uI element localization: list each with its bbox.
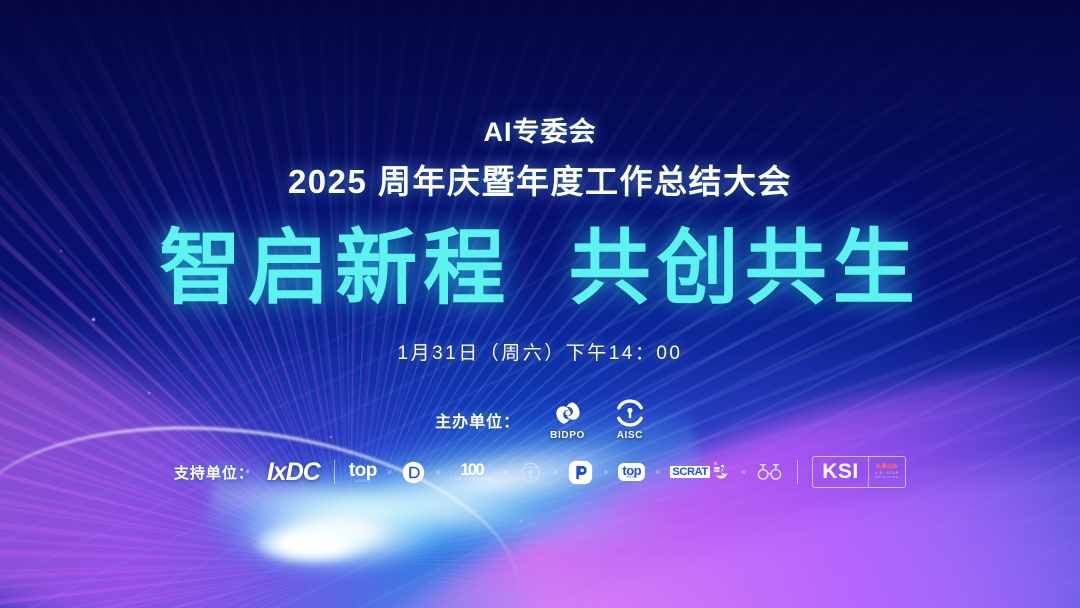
supporter-top-boxed[interactable]: top BOX xyxy=(618,459,645,485)
supporter-top[interactable]: top LOGO xyxy=(349,459,377,485)
organizer-name: BIDPO xyxy=(550,430,585,441)
organizers-label: 主办单位： xyxy=(435,408,520,432)
hundred-label: 100 xyxy=(460,463,482,477)
top-wordmark: top LOGO xyxy=(349,462,377,483)
supporter-fan[interactable] xyxy=(518,459,543,485)
glasses-icon xyxy=(756,462,783,482)
organizer-bidpo[interactable]: BIDPO xyxy=(550,398,585,441)
divider xyxy=(797,460,798,484)
organizer-name: AISC xyxy=(617,430,643,441)
scrat-label: SCRAT xyxy=(670,466,710,478)
fan-outline-icon xyxy=(518,460,543,485)
aisc-arcs-icon xyxy=(615,398,645,428)
hundred-sublabel: ONE HUNDRED xyxy=(450,478,492,481)
event-datetime: 1月31日（周六）下午14：00 xyxy=(0,338,1080,365)
bidpo-swirl-icon xyxy=(553,398,583,428)
ksi-label: KSI xyxy=(813,460,868,484)
logo-separator: × xyxy=(655,467,660,477)
event-poster: AI专委会 2025 周年庆暨年度工作总结大会 智启新程 共创共生 1月31日（… xyxy=(0,0,1080,608)
logo-separator: × xyxy=(435,467,440,477)
poster-content: AI专委会 2025 周年庆暨年度工作总结大会 智启新程 共创共生 1月31日（… xyxy=(0,0,1080,608)
logo-separator: × xyxy=(553,467,558,477)
rounded-p-icon xyxy=(568,460,593,485)
supporter-ksi[interactable]: KSI 私董创新 K.E. STAR CONSULTING xyxy=(812,456,906,488)
supporters-label: 支持单位： xyxy=(174,462,254,483)
top-sublabel: LOGO xyxy=(355,479,371,483)
supporter-scrat[interactable]: SCRAT xyxy=(670,459,731,485)
event-main-title: 智启新程 共创共生 xyxy=(0,228,1080,310)
hundred-wordmark: 100 ONE HUNDRED xyxy=(450,463,492,480)
top-boxed-wordmark: top BOX xyxy=(618,463,645,482)
supporters-row: 支持单位： IxDC top LOGO × × xyxy=(0,456,1080,488)
logo-separator: × xyxy=(741,467,746,477)
logo-separator: × xyxy=(603,467,608,477)
scrat-swan-icon xyxy=(711,464,731,481)
organizer-aisc[interactable]: AISC xyxy=(615,398,645,441)
supporter-glasses[interactable] xyxy=(756,459,783,485)
circle-d-icon xyxy=(402,461,425,484)
top-boxed-sublabel: BOX xyxy=(627,476,636,479)
supporter-hundred[interactable]: 100 ONE HUNDRED xyxy=(450,459,492,485)
event-kicker: AI专委会 xyxy=(0,110,1080,149)
supporter-p[interactable] xyxy=(568,459,593,485)
divider xyxy=(334,460,335,484)
ksi-text-block: 私董创新 K.E. STAR CONSULTING xyxy=(869,465,905,479)
organizers-row: 主办单位： BIDPO xyxy=(0,398,1080,441)
logo-separator: × xyxy=(387,467,392,477)
top-label: top xyxy=(349,462,377,479)
logo-separator: × xyxy=(503,467,508,477)
event-subheading: 2025 周年庆暨年度工作总结大会 xyxy=(0,155,1080,203)
ksi-line3: CONSULTING xyxy=(875,476,898,479)
supporter-circle-d[interactable] xyxy=(402,459,425,485)
supporter-ixdc[interactable]: IxDC xyxy=(267,458,320,487)
